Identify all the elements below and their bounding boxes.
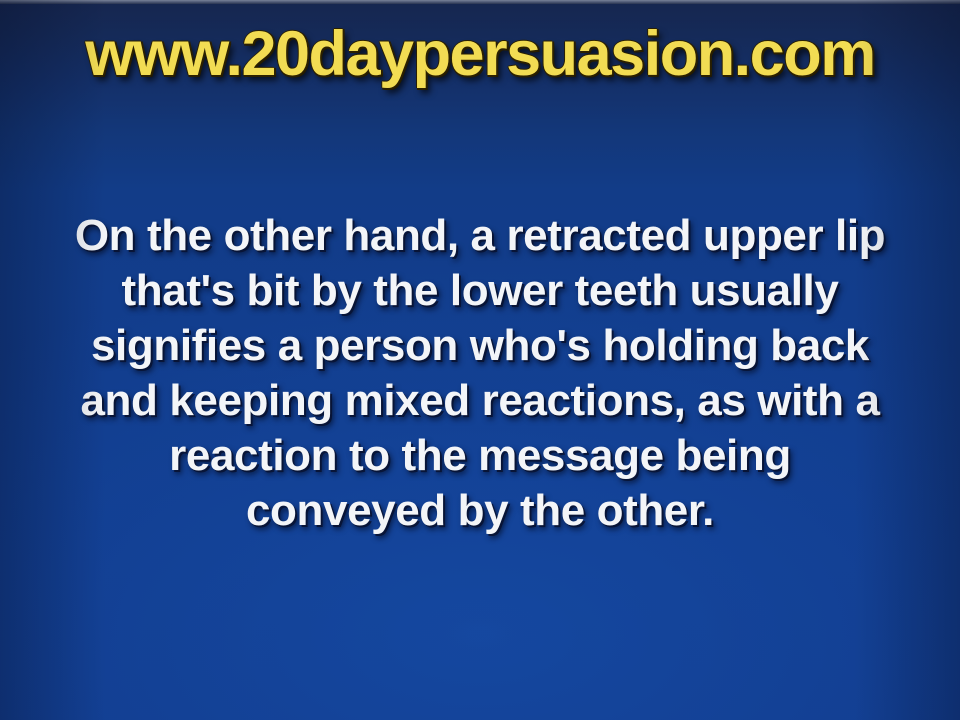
caption-line: reaction to the message being — [28, 428, 932, 483]
caption-line: that's bit by the lower teeth usually — [28, 263, 932, 318]
website-banner: www.20daypersuasion.com — [0, 20, 960, 89]
caption-line: conveyed by the other. — [28, 483, 932, 538]
caption-line: and keeping mixed reactions, as with a — [28, 373, 932, 428]
caption-line: signifies a person who's holding back — [28, 318, 932, 373]
video-slide: www.20daypersuasion.com On the other han… — [0, 0, 960, 720]
top-edge-strip — [0, 0, 960, 4]
caption-line: On the other hand, a retracted upper lip — [28, 208, 932, 263]
caption-block: On the other hand, a retracted upper lip… — [28, 208, 932, 538]
